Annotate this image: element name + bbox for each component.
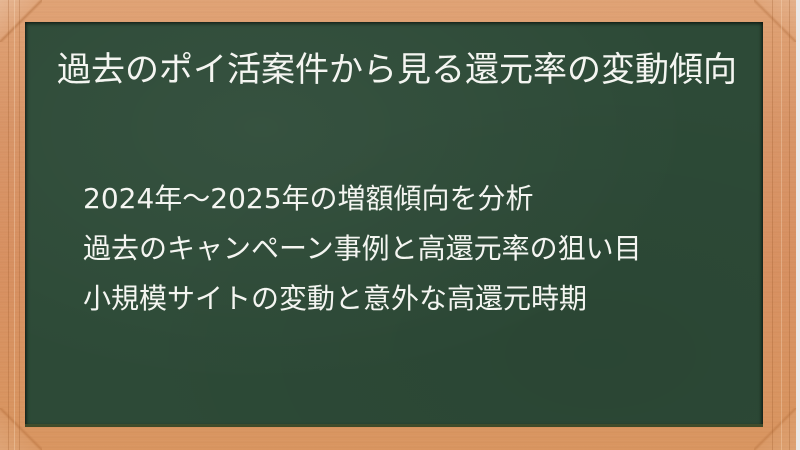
frame-grain-line <box>14 0 15 450</box>
slide-screenshot: 過去のポイ活案件から見る還元率の変動傾向 2024年〜2025年の増額傾向を分析… <box>0 0 800 450</box>
slide-bullet-item: 2024年〜2025年の増額傾向を分析 <box>83 174 743 224</box>
slide-bullet-list: 2024年〜2025年の増額傾向を分析 過去のキャンペーン事例と高還元率の狙い目… <box>83 174 743 324</box>
chalkboard-bottom-edge <box>25 424 763 427</box>
frame-grain-line <box>19 0 20 450</box>
chalkboard: 過去のポイ活案件から見る還元率の変動傾向 2024年〜2025年の増額傾向を分析… <box>25 22 763 427</box>
slide-bullet-item: 小規模サイトの変動と意外な高還元時期 <box>83 274 743 324</box>
slide-bullet-item: 過去のキャンペーン事例と高還元率の狙い目 <box>83 224 743 274</box>
frame-grain-line <box>772 0 773 450</box>
frame-grain-line <box>8 0 9 450</box>
slide-title: 過去のポイ活案件から見る還元率の変動傾向 <box>57 46 747 94</box>
frame-grain-line <box>789 0 790 450</box>
canvas-right-margin <box>796 0 800 450</box>
frame-grain-line <box>781 0 782 450</box>
